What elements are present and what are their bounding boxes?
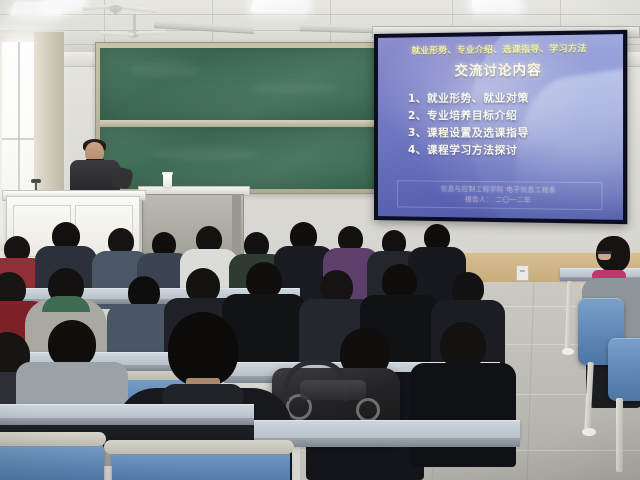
chalkboard-panel-upper (100, 48, 382, 120)
green-chalkboard (95, 42, 387, 194)
front-desk-leg (232, 194, 241, 260)
chair-foreground-left[interactable] (0, 440, 104, 480)
chair-foreground-armrest-left (0, 432, 106, 446)
chair-foreground-armrest (104, 440, 294, 454)
front-student-desk (0, 404, 254, 419)
presentation-slide: 就业形势、专业介绍、选课指导、学习方法 交流讨论内容 1、就业形势、就业对策 2… (378, 34, 623, 220)
slide-agenda-item-3: 3、课程设置及选课指导 (408, 125, 614, 143)
side-chair-foot (582, 428, 596, 436)
side-chair-front-leg (616, 398, 623, 472)
ceiling-light (471, 0, 520, 11)
side-chair-front[interactable] (608, 338, 640, 401)
eyeglasses-icon (597, 251, 612, 254)
chalkboard-panel-lower (100, 127, 382, 189)
wall-power-outlet (516, 265, 529, 281)
slide-title: 就业形势、专业介绍、选课指导、学习方法 (386, 44, 614, 57)
front-student-desk-right (254, 420, 520, 439)
classroom-photo: 就业形势、专业介绍、选课指导、学习方法 交流讨论内容 1、就业形势、就业对策 2… (0, 0, 640, 480)
ceiling-light (251, 0, 309, 12)
slide-subtitle: 交流讨论内容 (386, 58, 614, 80)
ceiling-fan-rod (114, 8, 117, 15)
slide-footer: 信息与控制工程学院 电子信息工程系 报告人： 二〇一二年 (397, 180, 603, 210)
ceiling-light (42, 0, 85, 9)
slide-agenda-item-4: 4、课程学习方法探讨 (408, 142, 614, 160)
chalk-tray (100, 120, 382, 127)
slide-agenda-item-1: 1、就业形势、就业对策 (408, 90, 614, 108)
side-desk-foot (562, 348, 574, 355)
slide-agenda-list: 1、就业形势、就业对策 2、专业培养目标介绍 3、课程设置及选课指导 4、课程学… (386, 90, 614, 161)
bag-flap (300, 380, 366, 400)
slide-agenda-item-2: 2、专业培养目标介绍 (408, 107, 614, 125)
paper-cup (163, 174, 172, 187)
ceiling-grid-line (0, 14, 640, 15)
projection-screen[interactable]: 就业形势、专业介绍、选课指导、学习方法 交流讨论内容 1、就业形势、就业对策 2… (374, 30, 627, 224)
front-student-desk-edge (0, 418, 254, 425)
slide-footer-line-2: 报告人： 二〇一二年 (398, 193, 602, 206)
